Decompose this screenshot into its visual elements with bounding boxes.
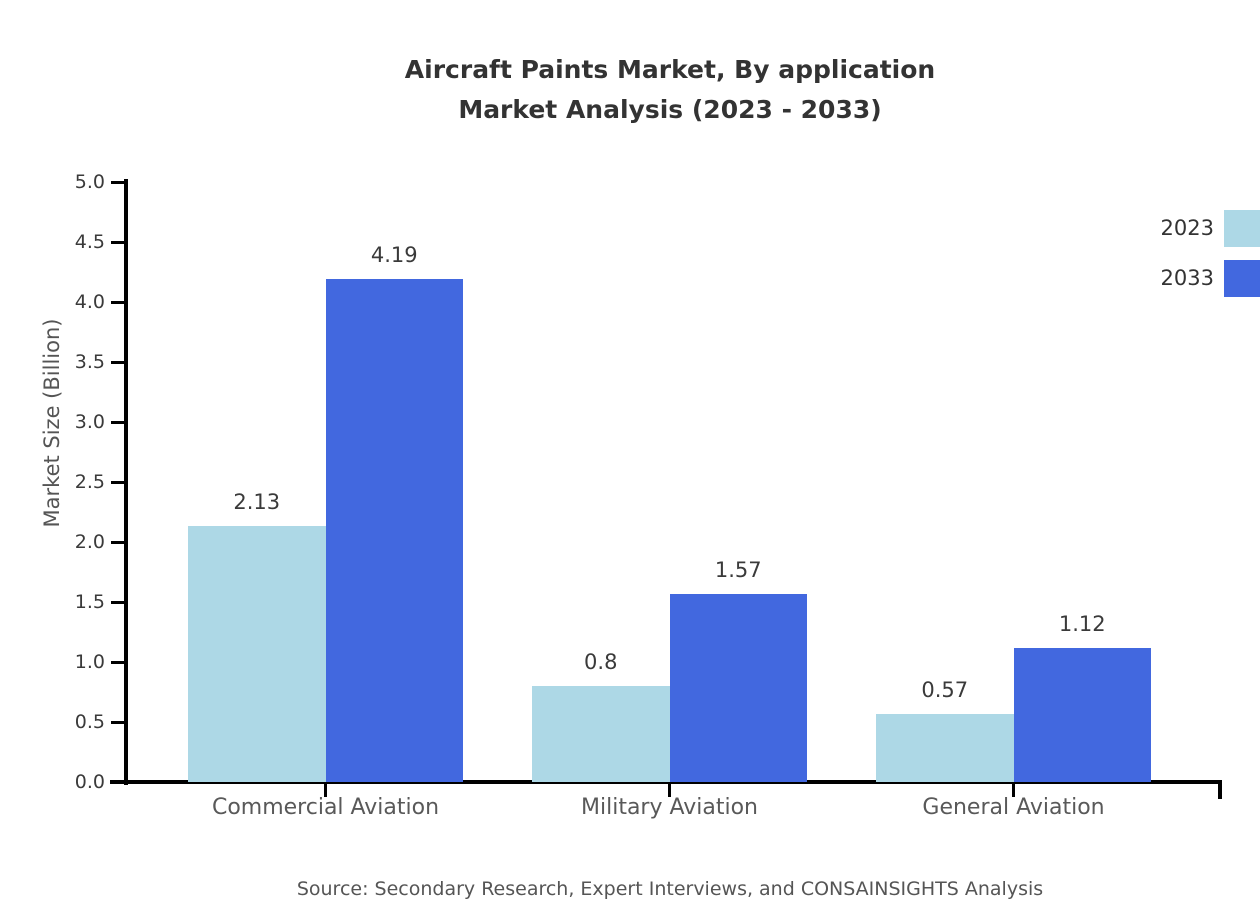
y-tick-label: 1.0 xyxy=(45,653,105,672)
bar-value-label: 0.57 xyxy=(865,680,1025,701)
y-tick-mark xyxy=(111,541,126,544)
y-tick-label: 0.0 xyxy=(45,773,105,792)
y-tick-label: 3.0 xyxy=(45,413,105,432)
x-category-label: Commercial Aviation xyxy=(166,795,486,821)
y-tick-mark xyxy=(111,241,126,244)
y-tick-label: 1.5 xyxy=(45,593,105,612)
bar-2023-military-aviation[interactable] xyxy=(532,686,670,782)
bar-2033-military-aviation[interactable] xyxy=(670,594,808,782)
chart-title-line-2: Market Analysis (2023 - 2033) xyxy=(0,90,1260,130)
legend-item-2023[interactable]: 2023 xyxy=(1120,210,1260,255)
y-tick-mark xyxy=(111,661,126,664)
y-tick-mark xyxy=(111,361,126,364)
chart-figure: Aircraft Paints Market, By application M… xyxy=(0,0,1260,920)
y-tick-mark xyxy=(111,481,126,484)
bar-2033-general-aviation[interactable] xyxy=(1014,648,1152,782)
legend-color-swatch xyxy=(1224,260,1260,297)
y-tick-label: 0.5 xyxy=(45,713,105,732)
y-tick-mark xyxy=(111,721,126,724)
y-tick-mark xyxy=(111,421,126,424)
y-tick-label: 2.5 xyxy=(45,473,105,492)
y-tick-label: 2.0 xyxy=(45,533,105,552)
bar-2023-general-aviation[interactable] xyxy=(876,714,1014,782)
x-category-label: General Aviation xyxy=(854,795,1174,821)
bar-value-label: 1.57 xyxy=(658,560,818,581)
y-tick-label: 5.0 xyxy=(45,173,105,192)
legend-item-label: 2023 xyxy=(1120,218,1214,239)
legend-item-2033[interactable]: 2033 xyxy=(1120,260,1260,305)
y-tick-mark xyxy=(111,601,126,604)
legend-color-swatch xyxy=(1224,210,1260,247)
bar-2023-commercial-aviation[interactable] xyxy=(188,526,326,782)
y-tick-label: 4.0 xyxy=(45,293,105,312)
y-tick-label: 3.5 xyxy=(45,353,105,372)
bar-value-label: 4.19 xyxy=(314,245,474,266)
y-tick-label: 4.5 xyxy=(45,233,105,252)
chart-title-line-1: Aircraft Paints Market, By application xyxy=(0,50,1260,90)
source-note: Source: Secondary Research, Expert Inter… xyxy=(0,878,1260,900)
bar-value-label: 1.12 xyxy=(1002,614,1162,635)
chart-legend: 20232033 xyxy=(1120,210,1260,315)
x-axis-end-tick xyxy=(1218,783,1222,799)
y-tick-mark xyxy=(111,181,126,184)
y-tick-mark xyxy=(111,781,126,784)
x-category-label: Military Aviation xyxy=(510,795,830,821)
bar-value-label: 2.13 xyxy=(177,492,337,513)
bar-2033-commercial-aviation[interactable] xyxy=(326,279,464,782)
legend-item-label: 2033 xyxy=(1120,268,1214,289)
chart-title: Aircraft Paints Market, By application M… xyxy=(0,50,1260,130)
bar-value-label: 0.8 xyxy=(521,652,681,673)
y-tick-mark xyxy=(111,301,126,304)
